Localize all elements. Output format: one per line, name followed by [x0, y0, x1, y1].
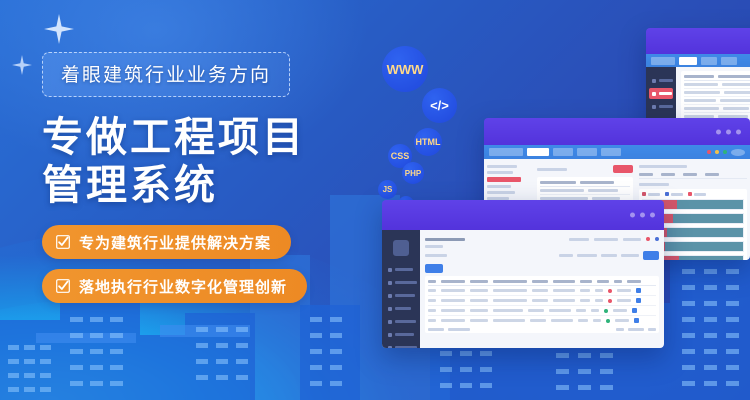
chart-legend [642, 192, 744, 196]
sidebar-item[interactable] [385, 290, 417, 301]
status-badge [606, 319, 610, 323]
sidebar-item[interactable] [385, 329, 417, 340]
primary-action-button[interactable] [425, 264, 443, 273]
table-row[interactable] [428, 306, 656, 316]
feature-badge[interactable]: 落地执行行业数字化管理创新 [42, 269, 307, 303]
keyword-bubble-code: </> [422, 88, 457, 123]
sidebar-item[interactable] [385, 264, 417, 275]
feature-badge-label: 专为建筑行业提供解决方案 [79, 232, 271, 253]
window-titlebar [484, 118, 750, 145]
row-action-icon[interactable] [636, 298, 641, 303]
app-topbar [646, 54, 750, 67]
status-badge [608, 299, 612, 303]
window-titlebar [382, 200, 664, 230]
subtitle-text: 着眼建筑行业业务方向 [61, 60, 271, 87]
sidebar-nav[interactable] [382, 230, 420, 348]
promo-banner: 着眼建筑行业业务方向 专做工程项目 管理系统 专为建筑行业提供解决方案 落地执行… [0, 0, 750, 400]
data-table[interactable] [425, 276, 659, 333]
check-box-icon [56, 235, 70, 249]
table-pagination[interactable] [428, 328, 656, 331]
subtitle-badge: 着眼建筑行业业务方向 [42, 52, 290, 97]
app-logo-icon [393, 240, 409, 256]
sidebar-item[interactable] [385, 342, 417, 348]
window-titlebar [646, 28, 750, 54]
keyword-bubble-html: HTML [414, 128, 442, 156]
filter-toolbar[interactable] [425, 251, 659, 260]
banner-copy: 着眼建筑行业业务方向 专做工程项目 管理系统 专为建筑行业提供解决方案 落地执行… [42, 52, 372, 313]
keyword-bubble-js: JS [378, 180, 397, 199]
feature-badge-label: 落地执行行业数字化管理创新 [79, 276, 287, 297]
feature-badge[interactable]: 专为建筑行业提供解决方案 [42, 225, 291, 259]
row-action-icon[interactable] [632, 308, 637, 313]
window-body [382, 230, 664, 348]
app-topbar[interactable] [484, 145, 750, 159]
check-box-icon [56, 279, 70, 293]
sparkle-star-small-icon [12, 55, 32, 75]
sidebar-item[interactable] [385, 316, 417, 327]
status-badge [604, 309, 608, 313]
headline-line-1: 专做工程项目 [42, 113, 372, 161]
headline-line-2: 管理系统 [42, 161, 372, 209]
window-controls[interactable] [630, 213, 655, 218]
page-title: 专做工程项目 管理系统 [42, 113, 372, 209]
status-badge [608, 289, 612, 293]
data-table[interactable] [681, 71, 750, 123]
row-action-icon[interactable] [636, 288, 641, 293]
sidebar-item[interactable] [385, 303, 417, 314]
table-row[interactable] [428, 296, 656, 306]
sparkle-star-icon [44, 14, 74, 44]
window-controls[interactable] [716, 129, 741, 134]
sidebar-item[interactable] [385, 277, 417, 288]
table-row[interactable] [428, 286, 656, 296]
keyword-bubble-php: PHP [402, 162, 424, 184]
app-content [420, 230, 664, 348]
row-action-icon[interactable] [634, 318, 639, 323]
dashboard-window-front[interactable] [382, 200, 664, 348]
table-row[interactable] [428, 316, 656, 325]
app-header[interactable] [425, 237, 659, 241]
feature-badge-list: 专为建筑行业提供解决方案 落地执行行业数字化管理创新 [42, 225, 372, 303]
keyword-bubble-www: WWW [382, 46, 428, 92]
